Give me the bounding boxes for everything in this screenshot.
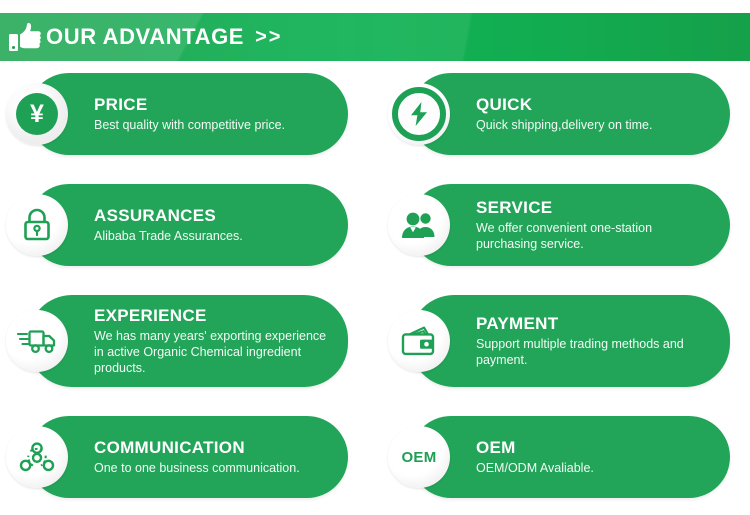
oem-badge-label: OEM (401, 449, 436, 466)
card-body: ASSURANCES Alibaba Trade Assurances. (94, 184, 334, 266)
thumbs-up-icon (4, 17, 46, 57)
yen-currency-icon: ¥ (6, 83, 68, 145)
card-description: One to one business communication. (94, 460, 334, 476)
wallet-icon (388, 310, 450, 372)
card-description: Alibaba Trade Assurances. (94, 228, 334, 244)
advantage-card-communication[interactable]: COMMUNICATION One to one business commun… (28, 416, 348, 498)
card-body: QUICK Quick shipping,delivery on time. (476, 73, 716, 155)
card-description: OEM/ODM Avaliable. (476, 460, 716, 476)
card-description: We has many years' exporting experience … (94, 328, 332, 376)
card-description: Quick shipping,delivery on time. (476, 117, 716, 133)
lightning-bolt-icon (388, 83, 450, 145)
advantage-page: OUR ADVANTAGE >> ¥ PRICE Best quality wi… (0, 0, 750, 515)
card-title: PAYMENT (476, 314, 716, 334)
card-body: COMMUNICATION One to one business commun… (94, 416, 334, 498)
card-title: PRICE (94, 95, 334, 115)
yen-glyph: ¥ (30, 102, 44, 127)
page-header-banner: OUR ADVANTAGE >> (0, 13, 750, 61)
card-description: Support multiple trading methods and pay… (476, 336, 714, 368)
card-body: PRICE Best quality with competitive pric… (94, 73, 334, 155)
advantage-card-oem[interactable]: OEM OEM OEM/ODM Avaliable. (410, 416, 730, 498)
advantage-card-experience[interactable]: EXPERIENCE We has many years' exporting … (28, 295, 348, 387)
page-title: OUR ADVANTAGE (46, 26, 244, 48)
advantage-card-payment[interactable]: PAYMENT Support multiple trading methods… (410, 295, 730, 387)
card-body: OEM OEM/ODM Avaliable. (476, 416, 716, 498)
card-title: EXPERIENCE (94, 306, 334, 326)
card-body: PAYMENT Support multiple trading methods… (476, 295, 716, 387)
card-title: QUICK (476, 95, 716, 115)
network-nodes-icon (6, 426, 68, 488)
padlock-icon (6, 194, 68, 256)
advantage-card-price[interactable]: ¥ PRICE Best quality with competitive pr… (28, 73, 348, 155)
delivery-truck-icon (6, 310, 68, 372)
advantage-card-quick[interactable]: QUICK Quick shipping,delivery on time. (410, 73, 730, 155)
card-description: We offer convenient one-station purchasi… (476, 220, 716, 252)
card-title: ASSURANCES (94, 206, 334, 226)
card-title: OEM (476, 438, 716, 458)
card-body: EXPERIENCE We has many years' exporting … (94, 295, 334, 387)
advantage-card-service[interactable]: SERVICE We offer convenient one-station … (410, 184, 730, 266)
chevron-right-double-icon: >> (255, 27, 282, 47)
card-title: COMMUNICATION (94, 438, 334, 458)
card-title: SERVICE (476, 198, 716, 218)
advantage-card-assurances[interactable]: ASSURANCES Alibaba Trade Assurances. (28, 184, 348, 266)
card-body: SERVICE We offer convenient one-station … (476, 184, 716, 266)
advantage-card-grid: ¥ PRICE Best quality with competitive pr… (0, 61, 750, 515)
users-group-icon (388, 194, 450, 256)
card-description: Best quality with competitive price. (94, 117, 334, 133)
oem-text-icon: OEM (388, 426, 450, 488)
